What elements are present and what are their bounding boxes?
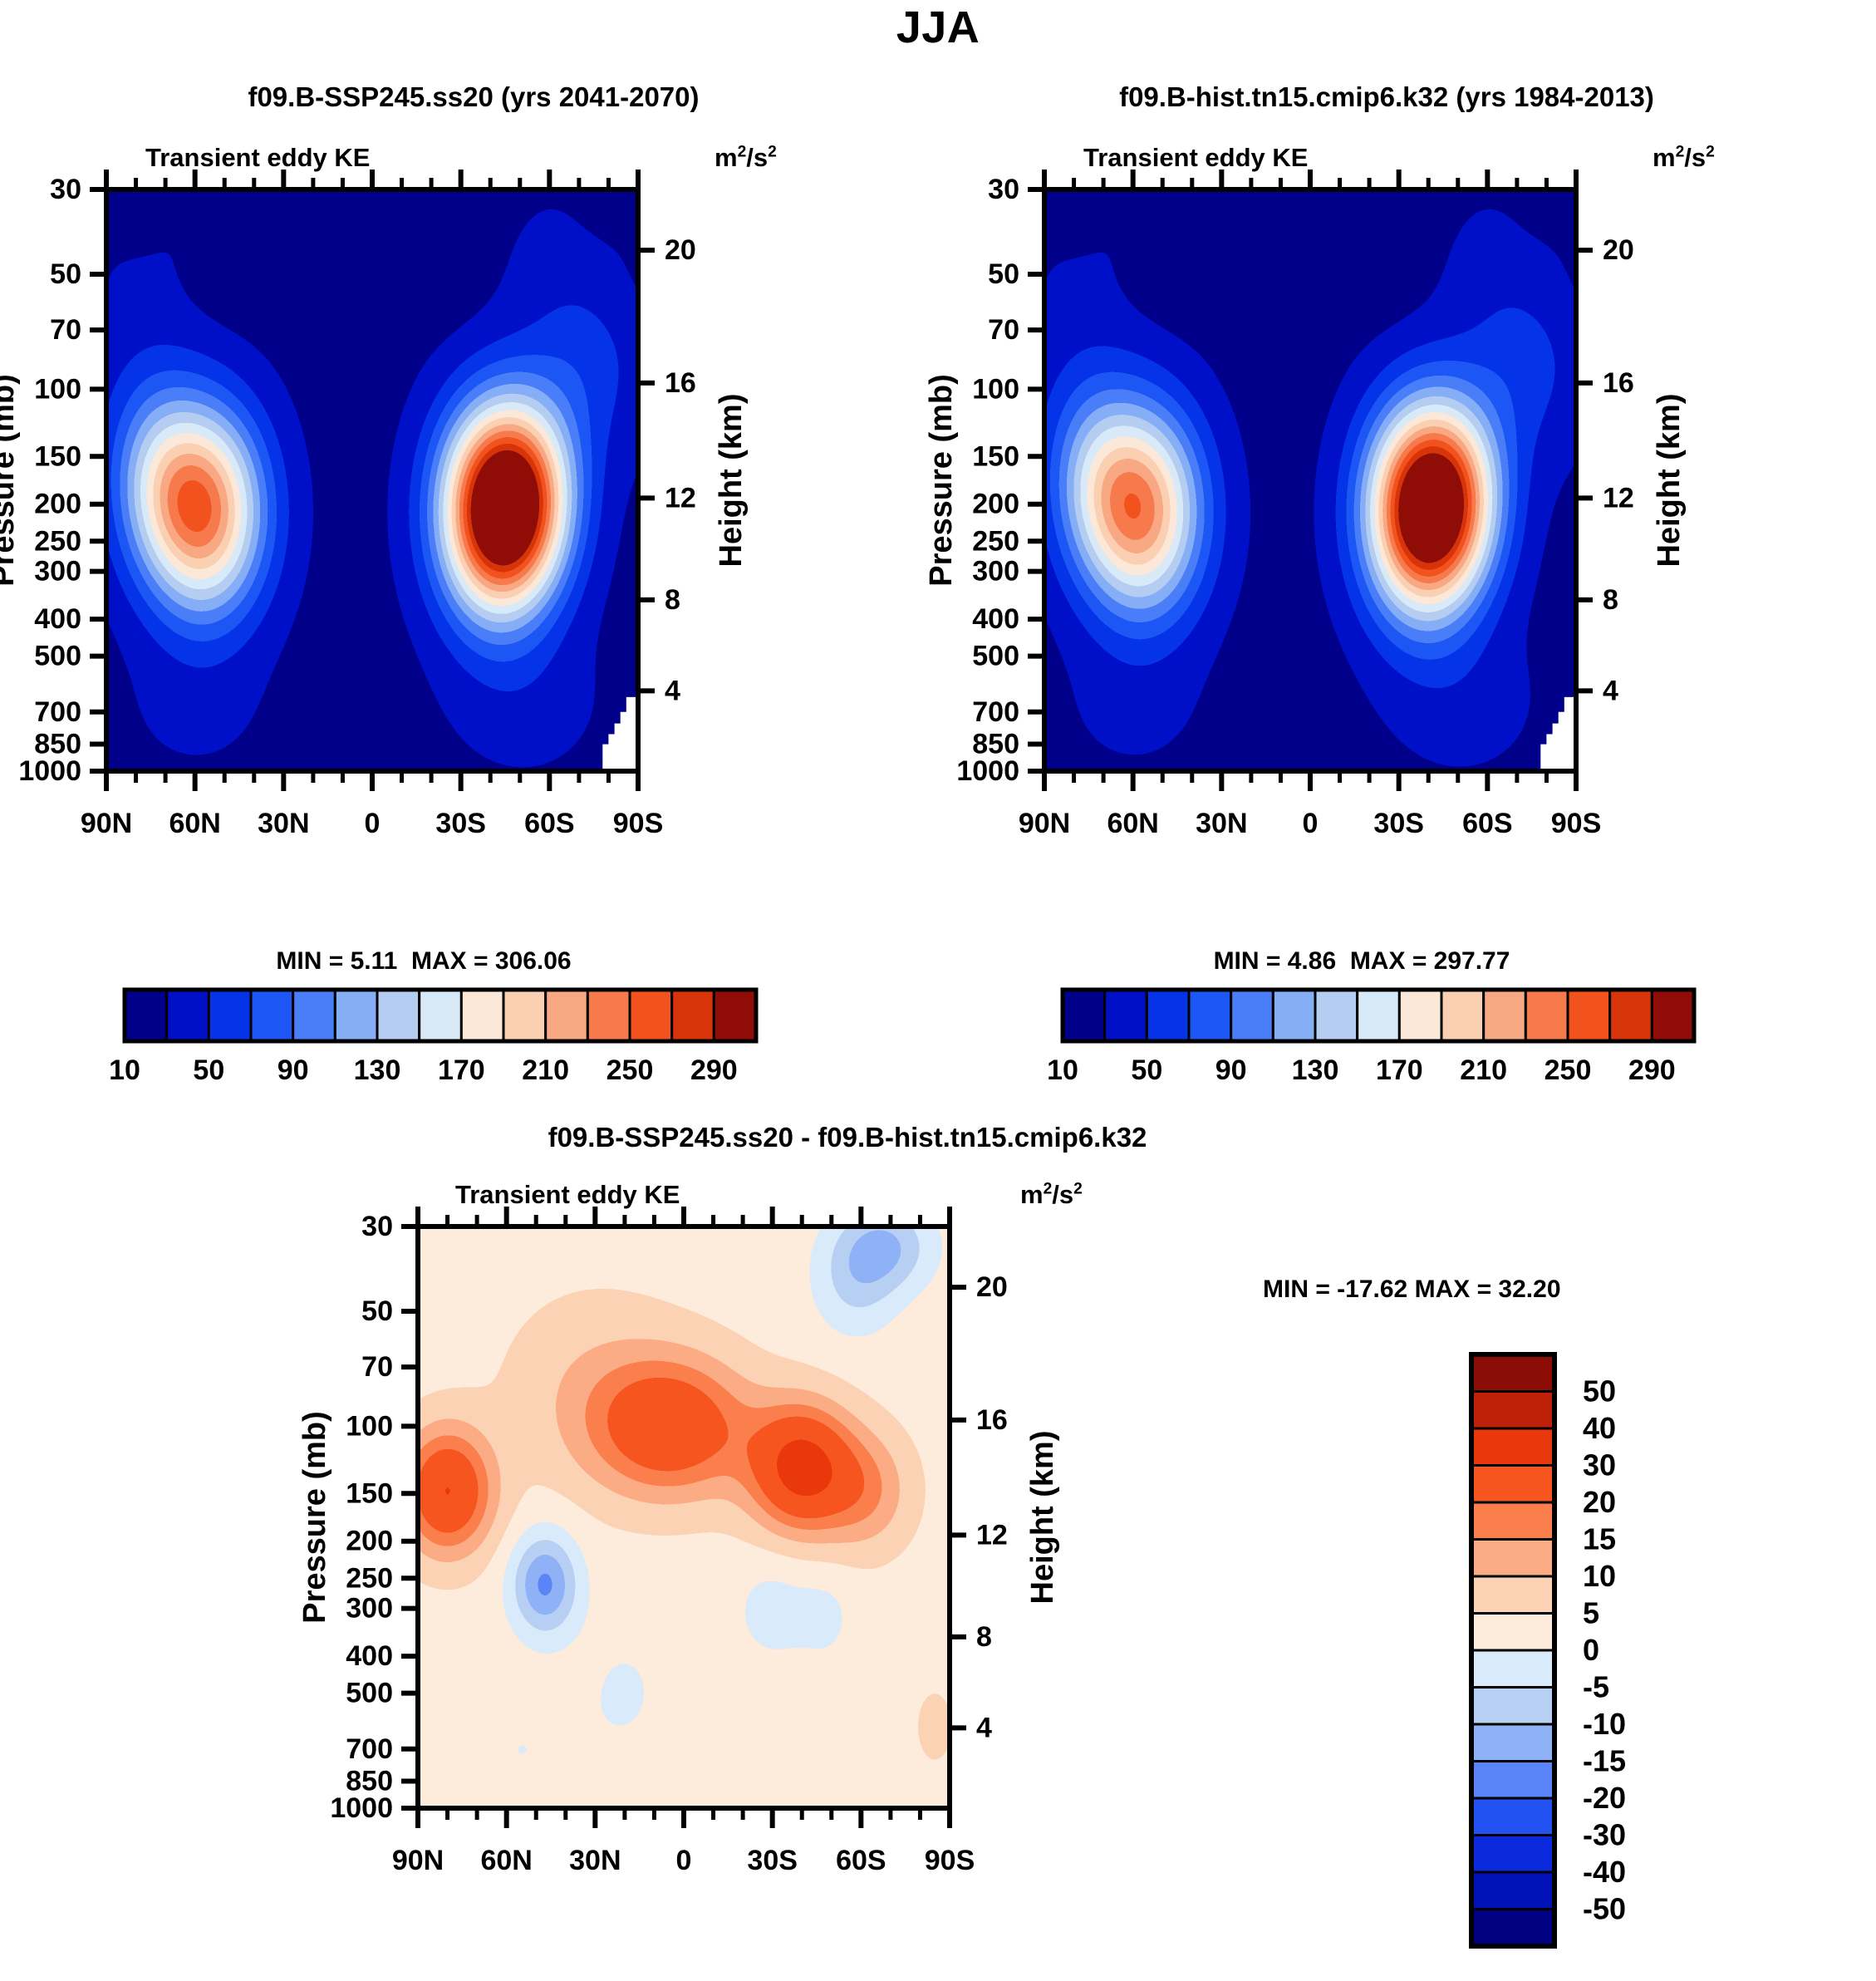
- ytick-50: 50: [50, 258, 81, 290]
- xtick-60N: 60N: [1107, 808, 1158, 839]
- colorbar-tick-50: 50: [193, 1054, 224, 1086]
- colorbar-swatch[interactable]: [1471, 1688, 1554, 1725]
- colorbar-swatch[interactable]: [1471, 1650, 1554, 1688]
- ytick-30: 30: [988, 174, 1019, 205]
- ytick-250: 250: [972, 525, 1019, 557]
- figure-root: JJA f09.B-SSP245.ss20 (yrs 2041-2070) Tr…: [0, 0, 1876, 1981]
- colorbar-difference[interactable]: 50403020151050-5-10-15-20-30-40-50: [1458, 1346, 1732, 1978]
- colorbar-swatch[interactable]: [1441, 990, 1484, 1041]
- max-value-hist: MAX = 297.77: [1350, 947, 1510, 975]
- colorbar-swatch[interactable]: [1189, 990, 1231, 1041]
- y2tick-12: 12: [665, 482, 696, 514]
- ytick-700: 700: [972, 696, 1019, 728]
- y2-axis-title: Height (km): [1025, 1431, 1060, 1605]
- colorbar-tick-210: 210: [522, 1054, 569, 1086]
- colorbar-tick-250: 250: [607, 1054, 654, 1086]
- ytick-300: 300: [34, 556, 81, 587]
- units-exp1: 2: [738, 144, 747, 161]
- colorbar-swatch[interactable]: [1471, 1614, 1554, 1651]
- y2tick-12: 12: [976, 1519, 1008, 1551]
- xtick-0: 0: [1303, 808, 1319, 839]
- colorbar-swatch[interactable]: [1273, 990, 1315, 1041]
- colorbar-tick-130: 130: [354, 1054, 401, 1086]
- ytick-150: 150: [972, 440, 1019, 472]
- field-label-difference: Transient eddy KE: [455, 1180, 680, 1210]
- colorbar-swatch[interactable]: [167, 990, 209, 1041]
- ytick-70: 70: [361, 1351, 393, 1383]
- xtick-60S: 60S: [524, 808, 575, 839]
- colorbar-swatch[interactable]: [546, 990, 588, 1041]
- ytick-500: 500: [34, 641, 81, 672]
- colorbar-tick--30: -30: [1583, 1818, 1626, 1852]
- colorbar-swatch[interactable]: [1471, 1910, 1554, 1947]
- colorbar-tick-130: 130: [1292, 1054, 1339, 1086]
- y-axis-title: Pressure (mb): [924, 374, 959, 587]
- colorbar-swatch[interactable]: [1471, 1428, 1554, 1466]
- colorbar-tick--5: -5: [1583, 1670, 1609, 1704]
- xtick-30S: 30S: [435, 808, 486, 839]
- colorbar-tick-210: 210: [1460, 1054, 1507, 1086]
- minmax-difference: MIN = -17.62 MAX = 32.20: [1263, 1276, 1761, 1304]
- y2tick-4: 4: [1603, 675, 1618, 706]
- colorbar-tick--15: -15: [1583, 1744, 1626, 1778]
- units-mid: /s: [1052, 1180, 1073, 1209]
- colorbar-swatch[interactable]: [1471, 1576, 1554, 1614]
- colorbar-swatch[interactable]: [1105, 990, 1147, 1041]
- colorbar-swatch[interactable]: [1231, 990, 1274, 1041]
- ytick-400: 400: [972, 603, 1019, 635]
- colorbar-swatch[interactable]: [1471, 1354, 1554, 1392]
- colorbar-tick--20: -20: [1583, 1781, 1626, 1815]
- colorbar-swatch[interactable]: [1399, 990, 1441, 1041]
- colorbar-swatch[interactable]: [630, 990, 672, 1041]
- min-value-hist: MIN = 4.86: [1214, 947, 1337, 975]
- ytick-200: 200: [972, 489, 1019, 520]
- colorbar-tick--10: -10: [1583, 1707, 1626, 1741]
- units-exp2: 2: [1073, 1181, 1083, 1198]
- colorbar-tick-10: 10: [109, 1054, 140, 1086]
- ytick-150: 150: [34, 440, 81, 472]
- colorbar-swatch[interactable]: [714, 990, 756, 1041]
- colorbar-tick-30: 30: [1583, 1448, 1616, 1482]
- ytick-700: 700: [346, 1733, 393, 1765]
- colorbar-tick--50: -50: [1583, 1892, 1626, 1926]
- colorbar-swatch[interactable]: [1358, 990, 1400, 1041]
- units-base: m: [715, 143, 738, 172]
- xtick-60S: 60S: [836, 1845, 886, 1876]
- figure-suptitle: JJA: [0, 2, 1876, 53]
- colorbar-swatch[interactable]: [1471, 1762, 1554, 1799]
- colorbar-tick-170: 170: [438, 1054, 485, 1086]
- colorbar-tick-90: 90: [277, 1054, 309, 1086]
- units-label-difference: m2/s2: [1020, 1180, 1083, 1210]
- y2tick-20: 20: [976, 1271, 1008, 1303]
- colorbar-swatch[interactable]: [1652, 990, 1694, 1041]
- ytick-300: 300: [972, 556, 1019, 587]
- ytick-70: 70: [50, 314, 81, 346]
- ytick-400: 400: [346, 1640, 393, 1672]
- units-exp2: 2: [768, 144, 777, 161]
- colorbar-swatch[interactable]: [209, 990, 251, 1041]
- ytick-250: 250: [346, 1562, 393, 1594]
- colorbar-swatch[interactable]: [1471, 1724, 1554, 1762]
- ytick-200: 200: [34, 489, 81, 520]
- y2tick-4: 4: [976, 1712, 992, 1743]
- y2-axis-title: Height (km): [1652, 394, 1687, 568]
- colorbar-tick-15: 15: [1583, 1522, 1616, 1556]
- contour-plot-hist: 3050701001502002503004005007008501000481…: [955, 175, 1835, 939]
- ytick-500: 500: [972, 641, 1019, 672]
- colorbar-swatch[interactable]: [1147, 990, 1189, 1041]
- colorbar-swatch[interactable]: [420, 990, 462, 1041]
- y2tick-8: 8: [1603, 584, 1618, 616]
- colorbar-tick-290: 290: [1628, 1054, 1676, 1086]
- panel-title-ssp245: f09.B-SSP245.ss20 (yrs 2041-2070): [50, 81, 897, 113]
- minmax-hist: MIN = 4.86 MAX = 297.77: [1063, 947, 1661, 976]
- colorbar-swatch[interactable]: [1471, 1502, 1554, 1540]
- ytick-50: 50: [988, 258, 1019, 290]
- panel-title-hist: f09.B-hist.tn15.cmip6.k32 (yrs 1984-2013…: [921, 81, 1852, 113]
- colorbar-swatch[interactable]: [672, 990, 715, 1041]
- colorbar-swatch[interactable]: [1568, 990, 1610, 1041]
- colorbar-swatch[interactable]: [1471, 1540, 1554, 1577]
- y2tick-16: 16: [1603, 367, 1634, 399]
- y2tick-12: 12: [1603, 482, 1634, 514]
- colorbar-ssp245[interactable]: 105090130170210250290: [116, 985, 764, 1093]
- ytick-50: 50: [361, 1295, 393, 1327]
- colorbar-tick-10: 10: [1583, 1559, 1616, 1593]
- colorbar-swatch[interactable]: [1471, 1836, 1554, 1873]
- colorbar-hist[interactable]: 105090130170210250290: [1054, 985, 1702, 1093]
- y2-axis-title: Height (km): [714, 394, 749, 568]
- xtick-30S: 30S: [1373, 808, 1424, 839]
- colorbar-swatch[interactable]: [251, 990, 293, 1041]
- ytick-1000: 1000: [956, 755, 1019, 787]
- colorbar-swatch[interactable]: [1471, 1798, 1554, 1836]
- units-mid: /s: [746, 143, 768, 172]
- xtick-90S: 90S: [613, 808, 664, 839]
- xtick-90N: 90N: [1019, 808, 1070, 839]
- y2tick-20: 20: [665, 234, 696, 266]
- units-base: m: [1653, 143, 1676, 172]
- panel-title-difference: f09.B-SSP245.ss20 - f09.B-hist.tn15.cmip…: [357, 1122, 1338, 1153]
- colorbar-swatch[interactable]: [125, 990, 167, 1041]
- y2tick-16: 16: [665, 367, 696, 399]
- min-value-ssp245: MIN = 5.11: [276, 947, 397, 975]
- colorbar-swatch[interactable]: [461, 990, 503, 1041]
- colorbar-tick-90: 90: [1215, 1054, 1247, 1086]
- ytick-100: 100: [972, 373, 1019, 405]
- ytick-70: 70: [988, 314, 1019, 346]
- colorbar-swatch[interactable]: [293, 990, 336, 1041]
- contour-plot-difference: 3050701001502002503004005007008501000481…: [328, 1212, 1209, 1976]
- ytick-1000: 1000: [18, 755, 81, 787]
- colorbar-swatch[interactable]: [1610, 990, 1653, 1041]
- minmax-ssp245: MIN = 5.11 MAX = 306.06: [125, 947, 723, 976]
- y2tick-4: 4: [665, 675, 680, 706]
- units-base: m: [1020, 1180, 1044, 1209]
- ytick-30: 30: [50, 174, 81, 205]
- y2tick-20: 20: [1603, 234, 1634, 266]
- xtick-60N: 60N: [480, 1845, 532, 1876]
- xtick-60N: 60N: [169, 808, 220, 839]
- units-exp1: 2: [1676, 144, 1685, 161]
- colorbar-tick--40: -40: [1583, 1855, 1626, 1889]
- xtick-90S: 90S: [1551, 808, 1602, 839]
- colorbar-swatch[interactable]: [503, 990, 546, 1041]
- xtick-0: 0: [676, 1845, 692, 1876]
- ytick-300: 300: [346, 1593, 393, 1625]
- y-axis-title: Pressure (mb): [0, 374, 21, 587]
- colorbar-swatch[interactable]: [1484, 990, 1526, 1041]
- y-axis-title: Pressure (mb): [297, 1411, 332, 1624]
- colorbar-swatch[interactable]: [335, 990, 377, 1041]
- colorbar-tick-50: 50: [1583, 1374, 1616, 1408]
- units-exp1: 2: [1044, 1181, 1053, 1198]
- units-exp2: 2: [1706, 144, 1715, 161]
- colorbar-swatch[interactable]: [377, 990, 420, 1041]
- colorbar-swatch[interactable]: [1315, 990, 1358, 1041]
- colorbar-tick-290: 290: [690, 1054, 738, 1086]
- y2tick-16: 16: [976, 1404, 1008, 1436]
- colorbar-swatch[interactable]: [1063, 990, 1105, 1041]
- xtick-30N: 30N: [1196, 808, 1247, 839]
- ytick-100: 100: [346, 1410, 393, 1442]
- xtick-30N: 30N: [569, 1845, 621, 1876]
- xtick-30S: 30S: [747, 1845, 798, 1876]
- max-value-ssp245: MAX = 306.06: [411, 947, 572, 975]
- colorbar-tick-20: 20: [1583, 1485, 1616, 1519]
- ytick-400: 400: [34, 603, 81, 635]
- field-label-ssp245: Transient eddy KE: [145, 143, 370, 173]
- y2tick-8: 8: [976, 1621, 992, 1653]
- ytick-200: 200: [346, 1526, 393, 1557]
- colorbar-tick-250: 250: [1545, 1054, 1592, 1086]
- ytick-100: 100: [34, 373, 81, 405]
- ytick-700: 700: [34, 696, 81, 728]
- colorbar-swatch[interactable]: [587, 990, 630, 1041]
- contour-plot-ssp245: 3050701001502002503004005007008501000481…: [17, 175, 897, 939]
- colorbar-tick-170: 170: [1376, 1054, 1423, 1086]
- ytick-250: 250: [34, 525, 81, 557]
- units-mid: /s: [1684, 143, 1706, 172]
- colorbar-tick-50: 50: [1131, 1054, 1162, 1086]
- colorbar-swatch[interactable]: [1525, 990, 1568, 1041]
- colorbar-swatch[interactable]: [1471, 1392, 1554, 1429]
- field-label-hist: Transient eddy KE: [1083, 143, 1308, 173]
- xtick-30N: 30N: [258, 808, 309, 839]
- xtick-90S: 90S: [925, 1845, 975, 1876]
- colorbar-swatch[interactable]: [1471, 1872, 1554, 1910]
- xtick-90N: 90N: [81, 808, 132, 839]
- xtick-0: 0: [365, 808, 381, 839]
- xtick-60S: 60S: [1462, 808, 1513, 839]
- colorbar-tick-0: 0: [1583, 1633, 1599, 1667]
- y2tick-8: 8: [665, 584, 680, 616]
- xtick-90N: 90N: [392, 1845, 444, 1876]
- units-label-hist: m2/s2: [1653, 143, 1715, 173]
- colorbar-tick-40: 40: [1583, 1411, 1616, 1445]
- ytick-150: 150: [346, 1477, 393, 1509]
- colorbar-swatch[interactable]: [1471, 1466, 1554, 1503]
- ytick-30: 30: [361, 1211, 393, 1242]
- ytick-500: 500: [346, 1678, 393, 1709]
- ytick-1000: 1000: [330, 1792, 393, 1824]
- units-label-ssp245: m2/s2: [715, 143, 777, 173]
- colorbar-tick-10: 10: [1047, 1054, 1078, 1086]
- colorbar-tick-5: 5: [1583, 1596, 1599, 1630]
